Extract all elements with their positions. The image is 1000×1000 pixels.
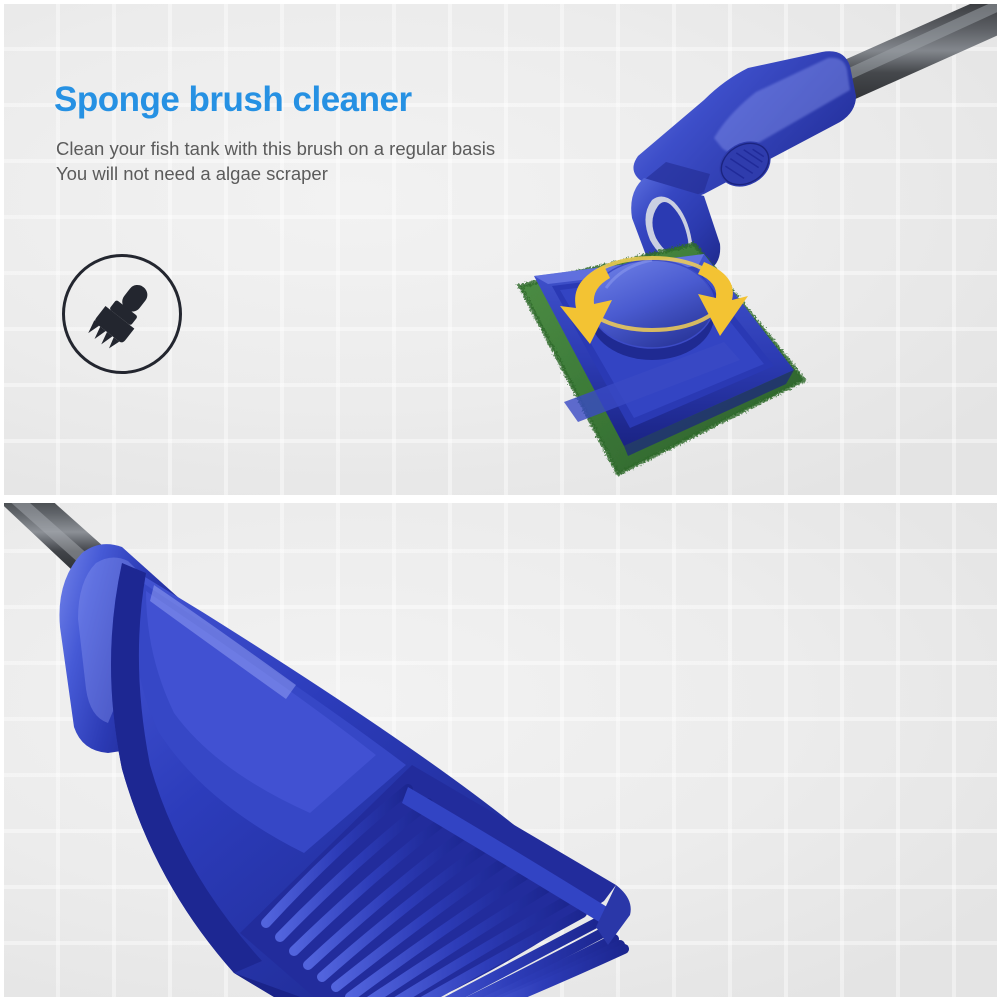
panel-gravel-rake: Aquarium gravel rake Good to clean up fi… (4, 503, 997, 997)
panel-sponge-brush: Sponge brush cleaner Clean your fish tan… (4, 4, 997, 495)
headline-sponge-brush: Sponge brush cleaner (54, 80, 412, 120)
description-sponge-brush: Clean your fish tank with this brush on … (56, 136, 495, 186)
gravel-rake-illustration (4, 503, 997, 997)
infographic-root: Sponge brush cleaner Clean your fish tan… (0, 0, 1000, 1000)
sponge-brush-illustration (4, 4, 997, 495)
blue-connector (633, 51, 856, 199)
brush-icon (83, 275, 161, 353)
pivot-knob (590, 260, 714, 360)
brush-icon-badge (62, 254, 182, 374)
